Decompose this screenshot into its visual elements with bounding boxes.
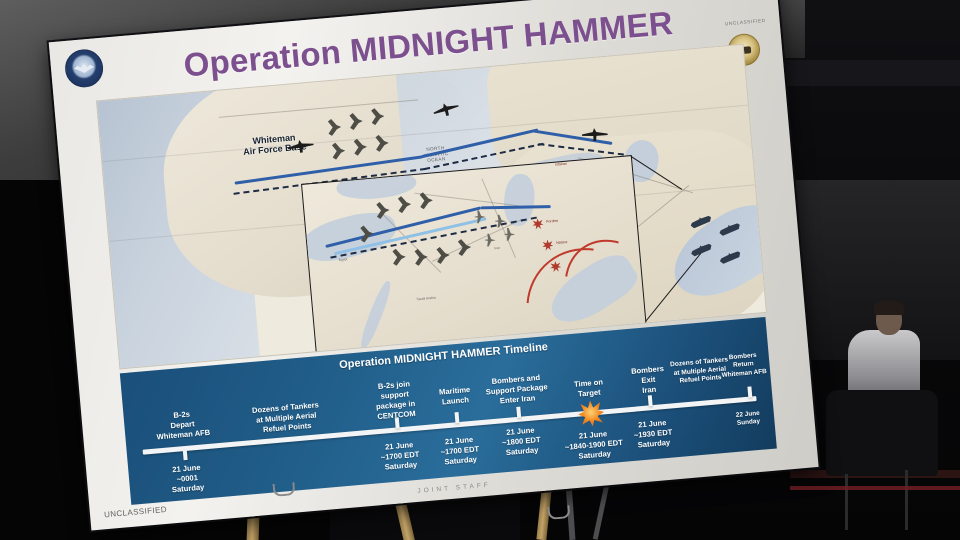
timeline-event-label: Bombers and Support Package Enter Iran [470,371,564,409]
timeline-event-time: 22 June Sunday [718,408,777,430]
timeline-tick [747,386,752,397]
target-label: Natanz [556,240,568,245]
screenshot-root: UNCLASSIFIED Operation MIDNIGHT HAMMER [0,0,960,540]
target-label: Fordow [546,219,558,224]
timeline-tick [183,450,188,460]
fighter-escort-icon [504,228,515,241]
presentation-board: UNCLASSIFIED Operation MIDNIGHT HAMMER [49,0,819,531]
classification-marking-bottom: UNCLASSIFIED [104,505,168,519]
b2-bomber-icon [392,248,406,266]
target-marker-icon [542,239,554,251]
presentation-board-wrapper: UNCLASSIFIED Operation MIDNIGHT HAMMER [0,0,960,540]
b2-bomber-icon [436,246,450,264]
timeline-tick [516,407,521,418]
inset-country-label: Egypt [339,257,348,262]
timeline-tick [648,395,653,406]
timeline-event-time: 21 June ~0001 Saturday [145,460,229,497]
joint-staff-watermark: JOINT STAFF [417,482,491,495]
inset-country-label: Iran [494,246,500,250]
target-marker-icon [532,218,544,230]
timeline-event-label: Bombers Return Whiteman AFB [710,350,777,381]
inset-mediterranean [301,205,400,268]
timeline-event-label: B-2s join support package in CENTCOM [359,378,432,424]
timeline-event-label: B-2s Depart Whiteman AFB [138,406,226,443]
timeline-event-label: Time on Target [557,376,621,401]
inset-country-label: Saudi Arabia [416,296,436,302]
b2-bomber-icon [398,196,412,214]
inset-red-sea [357,279,394,351]
timeline-event-time: 21 June ~1930 EDT Saturday [611,416,695,453]
timeline-tick [455,412,460,423]
b2-bomber-icon [414,248,428,266]
timeline-event-label: Dozens of Tankers at Multiple Aerial Ref… [233,399,339,438]
time-on-target-burst-icon [577,399,605,427]
target-label: Isfahan [555,162,567,167]
operation-map: NORTH ATLANTIC OCEAN Whiteman Air Force … [96,44,767,370]
